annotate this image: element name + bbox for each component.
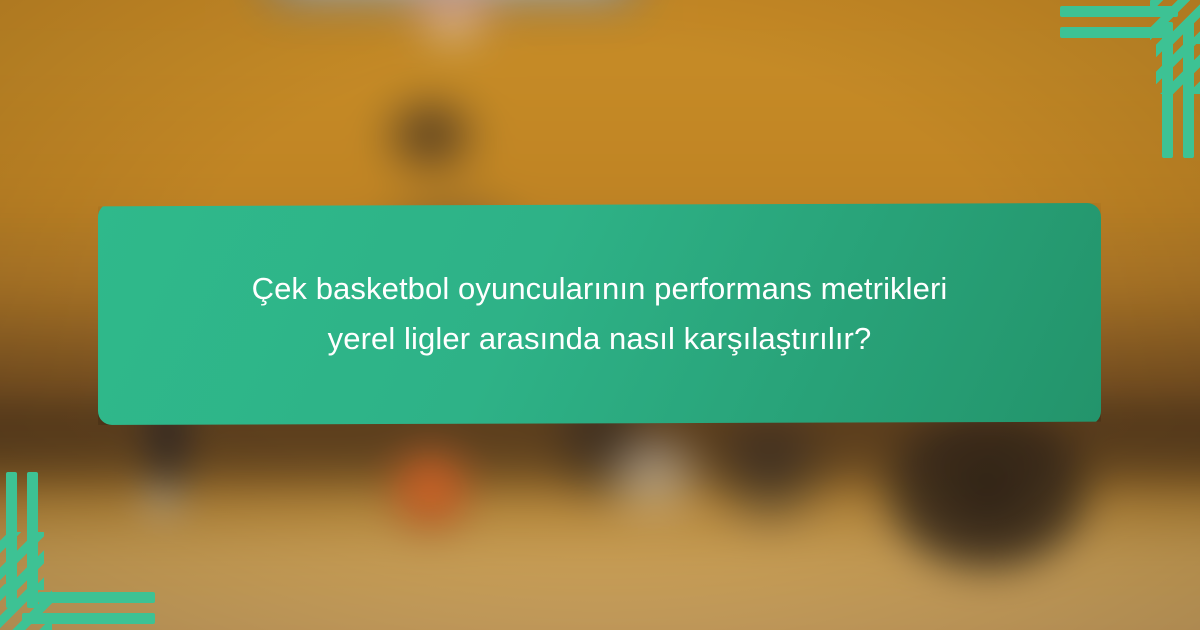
quote-question-text: Çek basketbol oyuncularının performans m… <box>154 264 1045 364</box>
quote-banner-inner: Çek basketbol oyuncularının performans m… <box>98 264 1101 364</box>
quote-card: Çek basketbol oyuncularının performans m… <box>0 0 1200 630</box>
quote-banner: Çek basketbol oyuncularının performans m… <box>98 203 1101 425</box>
